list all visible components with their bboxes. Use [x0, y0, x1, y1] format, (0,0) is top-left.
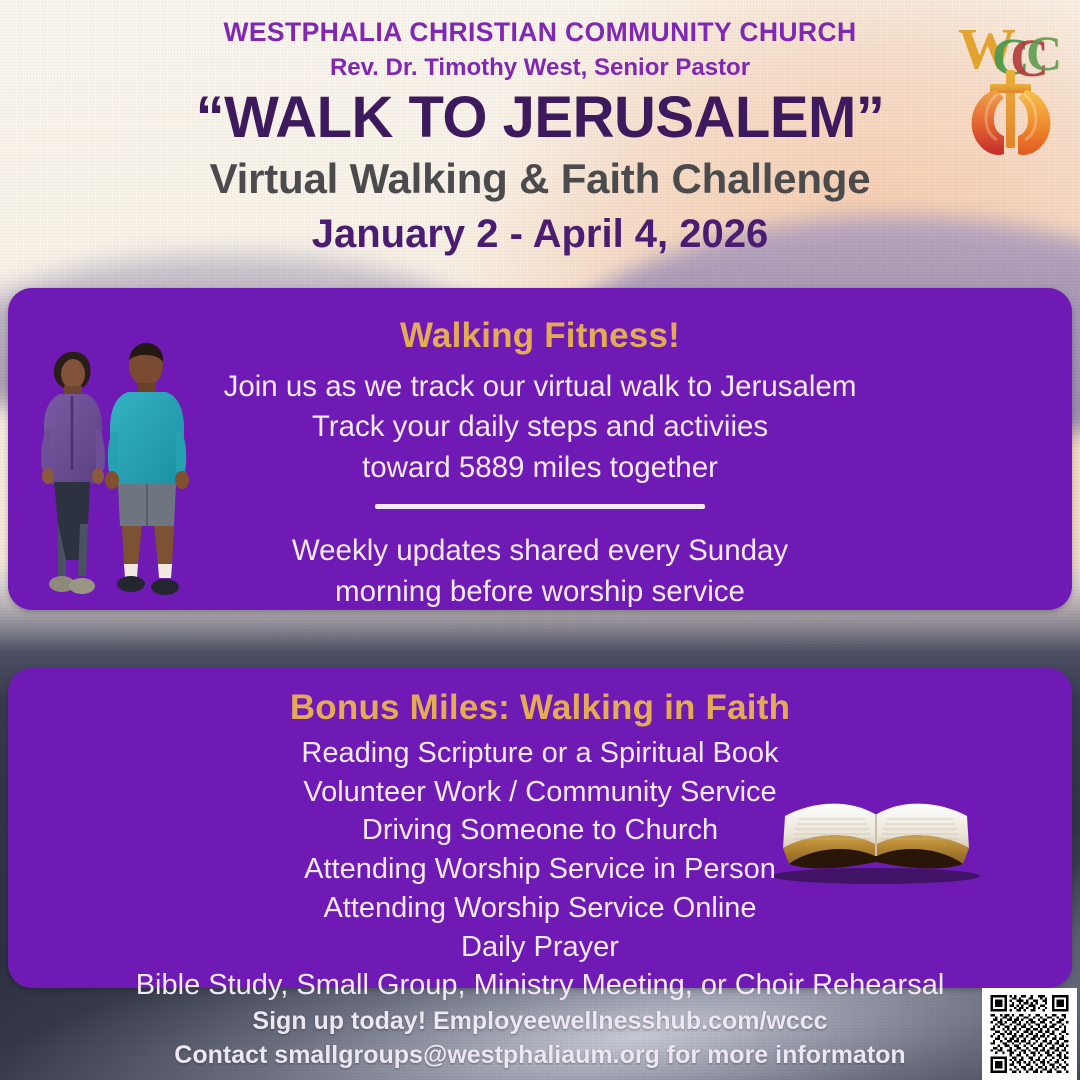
event-date-range: January 2 - April 4, 2026 — [0, 212, 1080, 257]
flyer-header: WESTPHALIA CHRISTIAN COMMUNITY CHURCH Re… — [0, 0, 1080, 286]
list-item: Bible Study, Small Group, Ministry Meeti… — [8, 966, 1072, 1005]
contact-email[interactable]: Contact smallgroups@westphaliaum.org for… — [0, 1038, 1080, 1072]
signup-link[interactable]: Sign up today! Employeewellnesshub.com/w… — [0, 1004, 1080, 1038]
list-item: Volunteer Work / Community Service — [8, 773, 1072, 812]
bonus-miles-list: Reading Scripture or a Spiritual Book Vo… — [8, 734, 1072, 1005]
flyer-footer: Sign up today! Employeewellnesshub.com/w… — [0, 1004, 1080, 1080]
bonus-miles-title: Bonus Miles: Walking in Faith — [8, 688, 1072, 728]
organization-name: WESTPHALIA CHRISTIAN COMMUNITY CHURCH — [0, 17, 1080, 48]
bonus-miles-panel: Bonus Miles: Walking in Faith Reading Sc… — [8, 668, 1072, 988]
page-title: “WALK TO JERUSALEM” — [0, 88, 1080, 149]
list-item: Attending Worship Service Online — [8, 889, 1072, 928]
panel-divider — [375, 504, 705, 509]
svg-text:C: C — [1026, 25, 1062, 81]
pastor-name: Rev. Dr. Timothy West, Senior Pastor — [0, 54, 1080, 82]
list-item: Driving Someone to Church — [8, 811, 1072, 850]
list-item: Reading Scripture or a Spiritual Book — [8, 734, 1072, 773]
list-item: Daily Prayer — [8, 928, 1072, 967]
walking-couple-photo — [24, 338, 204, 600]
flyer-canvas: WESTPHALIA CHRISTIAN COMMUNITY CHURCH Re… — [0, 0, 1080, 1080]
list-item: Attending Worship Service in Person — [8, 850, 1072, 889]
wccc-hands-cross-logo: W C C C — [952, 12, 1070, 162]
page-subtitle: Virtual Walking & Faith Challenge — [0, 155, 1080, 203]
